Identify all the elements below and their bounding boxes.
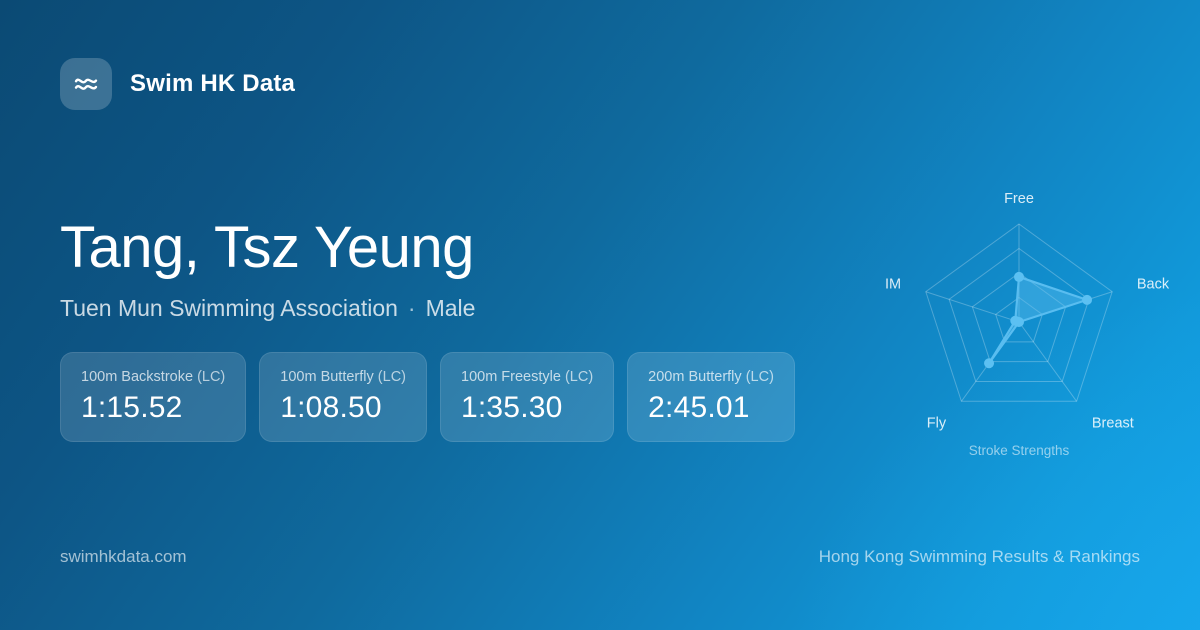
stat-event: 100m Backstroke	[81, 369, 193, 385]
stat-event: 100m Butterfly	[280, 369, 374, 385]
wave-icon	[60, 58, 112, 110]
radar-axis-label: Fly	[927, 415, 947, 431]
stat-time: 2:45.01	[648, 392, 774, 424]
stat-card[interactable]: 100m Freestyle (LC) 1:35.30	[440, 352, 614, 442]
footer-site-url: swimhkdata.com	[60, 547, 187, 567]
chart-caption: Stroke Strengths	[969, 443, 1070, 458]
stat-label: 100m Butterfly (LC)	[280, 369, 406, 385]
athlete-gender: Male	[426, 295, 476, 321]
stat-label: 100m Backstroke (LC)	[81, 369, 225, 385]
stat-time: 1:08.50	[280, 392, 406, 424]
stat-event: 200m Butterfly	[648, 369, 742, 385]
stat-time: 1:15.52	[81, 392, 225, 424]
stat-time: 1:35.30	[461, 392, 593, 424]
athlete-hero: Tang, Tsz Yeung Tuen Mun Swimming Associ…	[60, 218, 475, 322]
meta-separator: ·	[398, 295, 426, 322]
radar-axis-line	[926, 292, 1019, 322]
stroke-strengths-radar-chart: FreeBackBreastFlyIM Stroke Strengths	[859, 172, 1179, 472]
stat-course: (LC)	[746, 369, 774, 385]
stat-course: (LC)	[565, 369, 593, 385]
brand-header[interactable]: Swim HK Data	[60, 58, 295, 110]
radar-data-point	[1010, 316, 1020, 326]
radar-axis-label: Back	[1137, 277, 1170, 293]
radar-data-point	[984, 358, 994, 368]
radar-axis-label: IM	[885, 277, 901, 293]
brand-name: Swim HK Data	[130, 70, 295, 98]
stat-card[interactable]: 100m Backstroke (LC) 1:15.52	[60, 352, 246, 442]
radar-data-point	[1082, 295, 1092, 305]
stat-label: 200m Butterfly (LC)	[648, 369, 774, 385]
stat-event: 100m Freestyle	[461, 369, 561, 385]
radar-data-point	[1014, 272, 1024, 282]
athlete-meta: Tuen Mun Swimming Association·Male	[60, 295, 475, 322]
radar-axis-label: Free	[1004, 191, 1034, 207]
stat-label: 100m Freestyle (LC)	[461, 369, 593, 385]
footer-tagline: Hong Kong Swimming Results & Rankings	[819, 547, 1140, 567]
page-title: Tang, Tsz Yeung	[60, 218, 475, 279]
best-times-list: 100m Backstroke (LC) 1:15.52 100m Butter…	[60, 352, 795, 442]
radar-axis-label: Breast	[1092, 415, 1134, 431]
stat-course: (LC)	[378, 369, 406, 385]
social-card-background: Swim HK Data Tang, Tsz Yeung Tuen Mun Sw…	[0, 0, 1200, 630]
stat-card[interactable]: 200m Butterfly (LC) 2:45.01	[627, 352, 795, 442]
athlete-club: Tuen Mun Swimming Association	[60, 295, 398, 321]
stat-course: (LC)	[197, 369, 225, 385]
stat-card[interactable]: 100m Butterfly (LC) 1:08.50	[259, 352, 427, 442]
